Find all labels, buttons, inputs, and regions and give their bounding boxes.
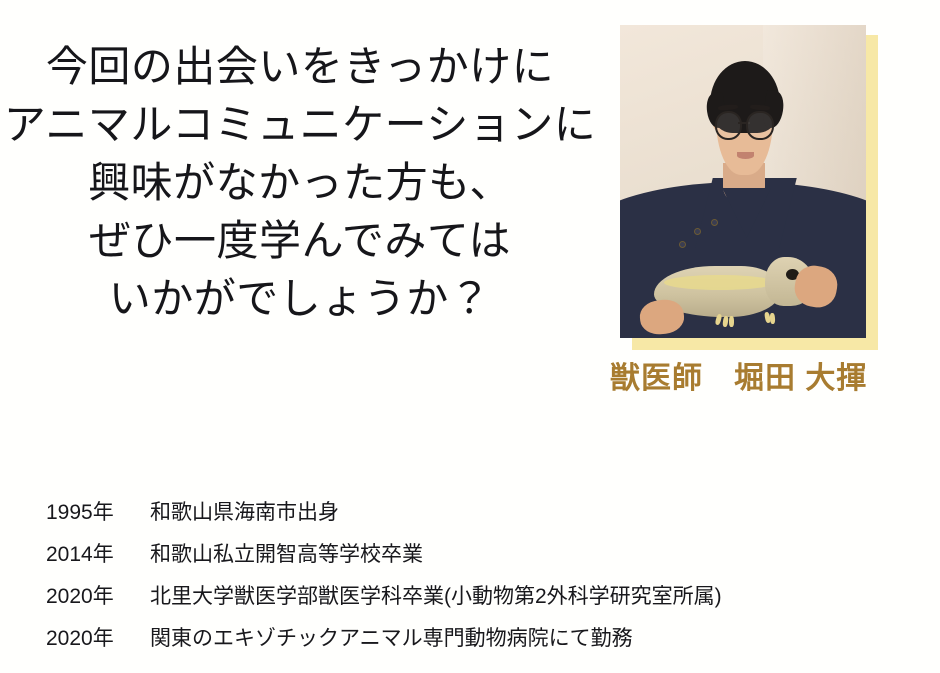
history-description: 北里大学獣医学部獣医学科卒業(小動物第2外科学研究室所属) <box>150 576 722 618</box>
glasses-lens-left <box>715 111 743 140</box>
history-year: 2020年 <box>46 618 150 660</box>
history-row: 2014年 和歌山私立開智高等学校卒業 <box>46 534 906 576</box>
headline-line-3: 興味がなかった方も、 <box>0 154 600 212</box>
lizard-claw <box>722 316 728 328</box>
history-row: 2020年 関東のエキゾチックアニマル専門動物病院にて勤務 <box>46 618 906 660</box>
lizard-dorsal-stripe <box>664 275 774 290</box>
profile-history-list: 1995年 和歌山県海南市出身 2014年 和歌山私立開智高等学校卒業 2020… <box>46 492 906 660</box>
headline-block: 今回の出会いをきっかけに アニマルコミュニケーションに 興味がなかった方も、 ぜ… <box>0 38 600 328</box>
lizard-claw <box>729 316 734 327</box>
scrub-snap-button <box>711 219 718 226</box>
portrait-container <box>620 25 878 350</box>
veterinarian-photo <box>620 25 866 338</box>
lizard-claw <box>769 313 775 324</box>
subject-mouth <box>737 152 754 159</box>
glasses-icon <box>715 111 774 136</box>
headline-line-2: アニマルコミュニケーションに <box>0 96 600 154</box>
lizard-claw <box>715 314 723 326</box>
history-year: 2020年 <box>46 576 150 618</box>
glasses-lens-right <box>746 111 774 140</box>
history-description: 関東のエキゾチックアニマル専門動物病院にて勤務 <box>150 618 633 660</box>
slide-root: 今回の出会いをきっかけに アニマルコミュニケーションに 興味がなかった方も、 ぜ… <box>0 0 940 673</box>
headline-line-4: ぜひ一度学んでみては <box>0 212 600 270</box>
history-description: 和歌山県海南市出身 <box>150 492 339 534</box>
history-year: 2014年 <box>46 534 150 576</box>
headline-line-5: いかがでしょうか？ <box>0 270 600 328</box>
headline-line-1: 今回の出会いをきっかけに <box>0 38 600 96</box>
history-row: 1995年 和歌山県海南市出身 <box>46 492 906 534</box>
history-row: 2020年 北里大学獣医学部獣医学科卒業(小動物第2外科学研究室所属) <box>46 576 906 618</box>
history-year: 1995年 <box>46 492 150 534</box>
history-description: 和歌山私立開智高等学校卒業 <box>150 534 423 576</box>
scrub-snap-button <box>679 241 686 248</box>
portrait-caption: 獣医師 堀田 大揮 <box>610 362 867 396</box>
